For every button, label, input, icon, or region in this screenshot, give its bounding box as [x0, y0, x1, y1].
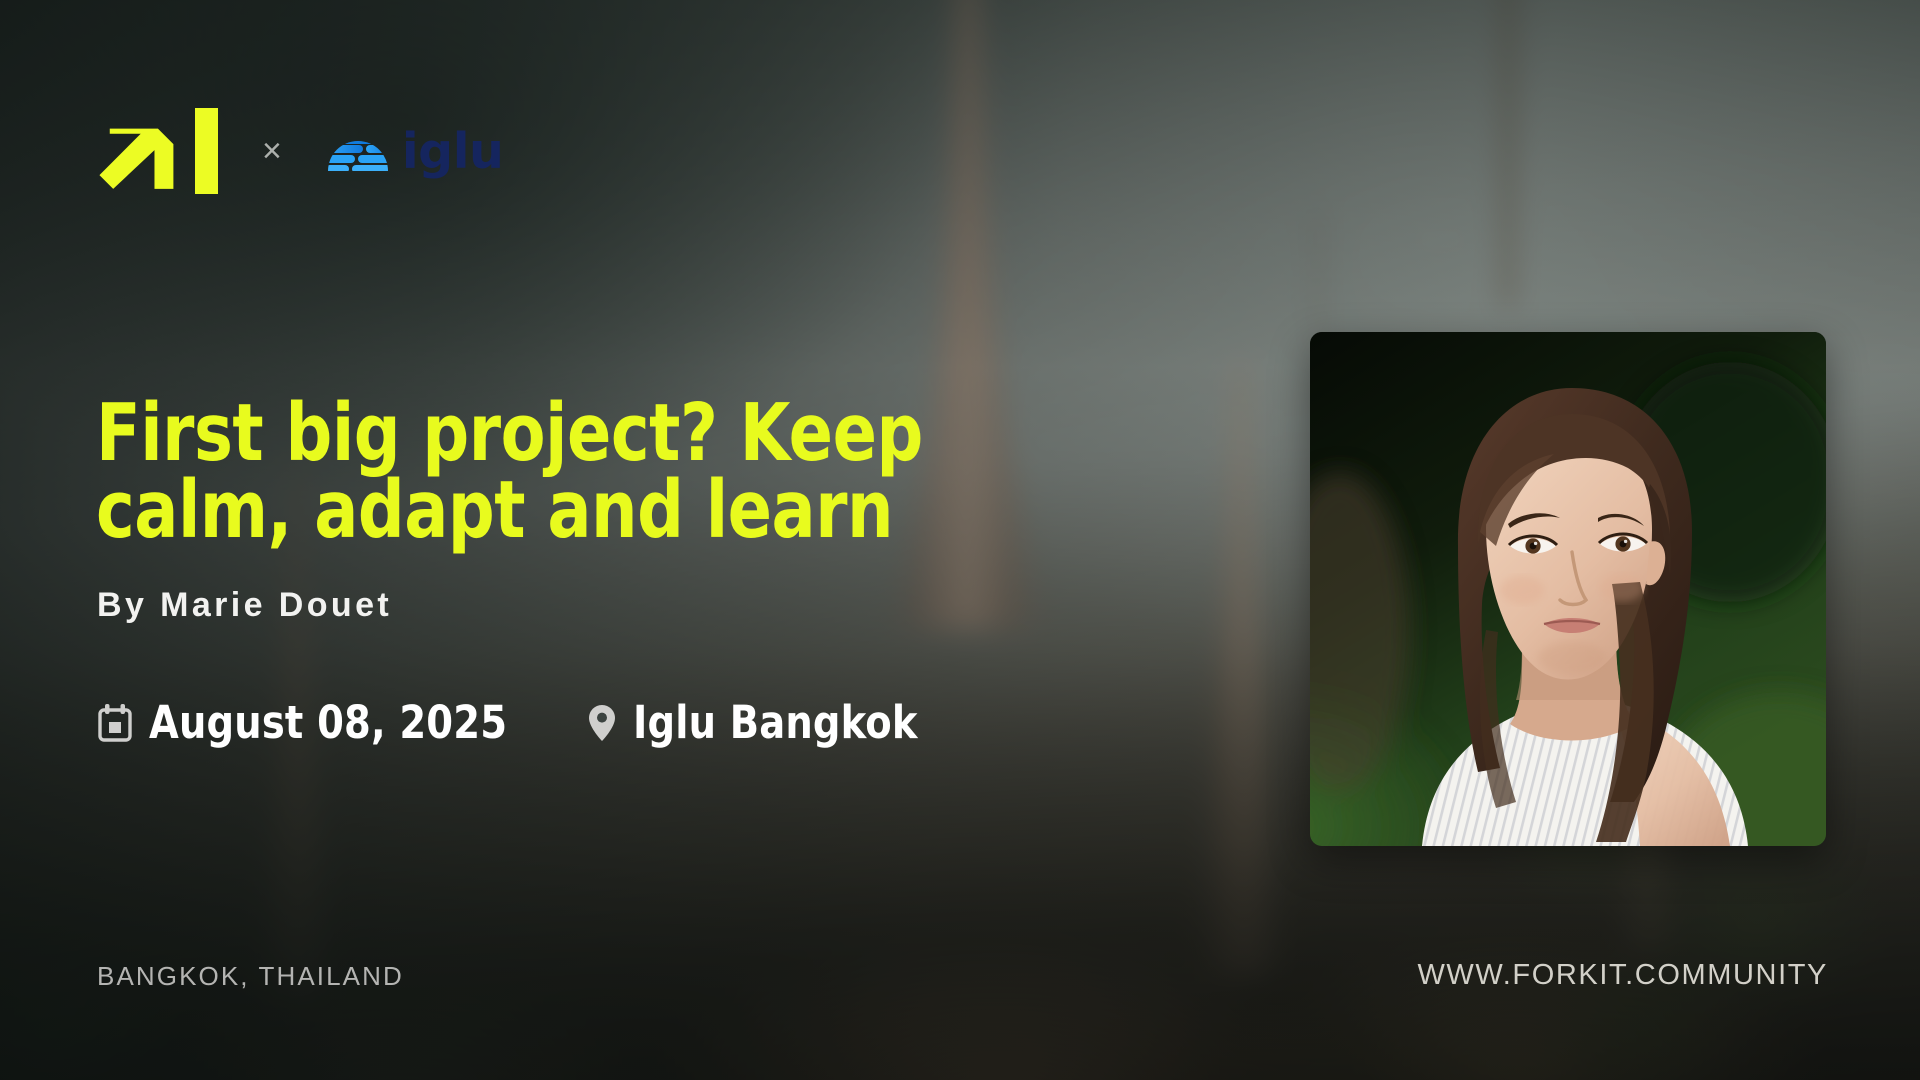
speaker-photo — [1310, 332, 1826, 846]
event-venue-text: Iglu Bangkok — [633, 700, 918, 745]
event-date: August 08, 2025 — [98, 700, 526, 745]
event-venue: Iglu Bangkok — [588, 700, 933, 745]
event-meta-row: August 08, 2025 Iglu Bangkok — [98, 700, 933, 745]
event-banner: × — [0, 0, 1920, 1080]
map-pin-icon — [588, 704, 616, 742]
forkit-logo[interactable] — [96, 108, 218, 194]
collaboration-cross-icon: × — [262, 134, 282, 168]
talk-title: First big project? Keep calm, adapt and … — [96, 395, 979, 548]
event-date-text: August 08, 2025 — [149, 700, 507, 745]
iglu-logo[interactable]: iglu — [326, 127, 504, 176]
exclamation-mark-icon — [195, 108, 218, 194]
iglu-wordmark: iglu — [402, 127, 504, 176]
calendar-icon — [98, 704, 132, 742]
talk-byline: By Marie Douet — [97, 586, 392, 625]
igloo-dome-icon — [326, 129, 390, 173]
footer-website[interactable]: WWW.FORKIT.COMMUNITY — [1417, 959, 1828, 992]
footer-location: BANGKOK, THAILAND — [97, 961, 404, 992]
speaker-portrait-illustration — [1310, 332, 1826, 846]
arrow-up-right-icon — [96, 108, 182, 194]
banner-content: × — [0, 0, 1920, 1080]
logo-row: × — [96, 108, 503, 194]
